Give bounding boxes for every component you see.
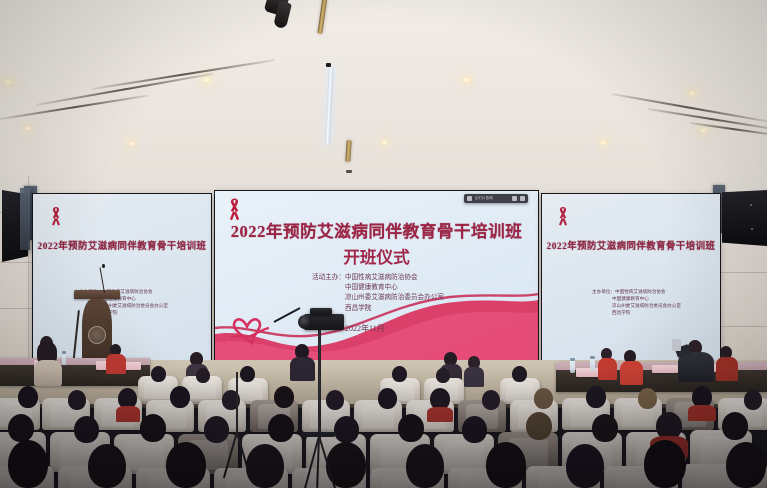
line-array-speaker-right (722, 190, 767, 246)
main-screen-subtitle: 开班仪式 (215, 244, 538, 268)
head (196, 368, 210, 383)
name-card (652, 365, 678, 373)
torso (678, 352, 714, 382)
camera-tripod (296, 300, 366, 488)
microphone-capsule (102, 264, 105, 268)
aids-awareness-ribbon-icon (555, 204, 571, 228)
recessed-downlight (462, 77, 471, 83)
head (566, 444, 604, 488)
torso (598, 358, 617, 380)
head (74, 416, 99, 443)
heart-ribbon-icon (229, 316, 275, 346)
head (526, 412, 552, 440)
head (644, 440, 686, 488)
right-projection-screen[interactable]: 2022年预防艾滋病同伴教育骨干培训班 主办单位：中国性病艾滋病防治协会 中国健… (542, 194, 720, 361)
tube-light-cap (326, 63, 331, 67)
toolbar-label: 幻灯片放映 (475, 197, 493, 200)
next-icon[interactable] (520, 196, 525, 201)
conference-hall-photo: 2022年预防艾滋病同伴教育骨干培训班 主办单位：中国性病艾滋病防治协会 中国健… (0, 0, 767, 488)
head (151, 366, 166, 382)
head (8, 414, 34, 442)
organizer-label: 活动主办： (312, 274, 345, 281)
water-bottle (62, 351, 66, 365)
organizer-line-3: 凉山州委艾滋病防治委员会办公室 (612, 303, 681, 308)
recessed-downlight (128, 141, 135, 146)
head (140, 414, 166, 442)
torso (116, 406, 140, 422)
menu-icon[interactable] (512, 196, 517, 201)
left-projection-screen[interactable]: 2022年预防艾滋病同伴教育骨干培训班 主办单位：中国性病艾滋病防治协会 中国健… (33, 194, 211, 361)
head (512, 366, 527, 382)
head (166, 442, 206, 488)
tripod-leg (316, 436, 320, 488)
recessed-downlight (700, 128, 707, 133)
organizer-label: 主办单位： (592, 289, 615, 294)
head (170, 386, 190, 408)
name-card (576, 368, 600, 377)
recessed-downlight (202, 77, 211, 83)
left-screen-title: 2022年预防艾滋病同伴教育骨干培训班 (33, 238, 211, 252)
water-bottle (570, 358, 575, 373)
torso (427, 407, 453, 422)
spotlight-fixture (266, 0, 306, 38)
right-screen-organizers: 主办单位：中国性病艾滋病防治协会 中国健康教育中心 凉山州委艾滋病防治委员会办公… (592, 288, 681, 316)
head (486, 442, 526, 488)
podium-emblem (88, 326, 106, 344)
head (68, 390, 86, 410)
main-screen-title: 2022年预防艾滋病同伴教育骨干培训班 (215, 218, 538, 242)
tripod-center-column (318, 328, 321, 440)
podium-top (74, 290, 120, 299)
head (482, 390, 500, 410)
stand-leg (236, 432, 251, 479)
head (406, 444, 444, 488)
head (436, 368, 450, 383)
camera-lens-icon (298, 315, 312, 329)
head (462, 416, 487, 443)
head (744, 390, 762, 410)
head (88, 444, 126, 488)
stand-column (236, 372, 238, 436)
organizer-line-4: 西昌学院 (612, 310, 630, 315)
cove-light-strip-2 (0, 10, 767, 182)
smartphone-icon (672, 339, 681, 351)
head (586, 386, 606, 408)
ceiling (0, 0, 767, 182)
tripod-spreader (302, 432, 336, 437)
pen-icon[interactable] (467, 196, 472, 201)
head (378, 388, 397, 409)
organizer-line-2: 中国健康教育中心 (345, 284, 398, 291)
recessed-downlight (381, 140, 388, 145)
right-screen-title: 2022年预防艾滋病同伴教育骨干培训班 (542, 238, 720, 252)
head (398, 414, 424, 442)
head (534, 388, 553, 409)
organizer-line-1: 中国性病艾滋病防治协会 (615, 289, 666, 294)
organizer-line-1: 中国性病艾滋病防治协会 (345, 274, 418, 281)
head (592, 414, 618, 442)
organizer-line-2: 中国健康教育中心 (612, 296, 649, 301)
tripod-leg (318, 436, 337, 488)
head (18, 386, 38, 408)
head (722, 412, 748, 440)
head (8, 440, 48, 488)
ceiling-sensor (346, 170, 352, 173)
slideshow-toolbar[interactable]: 幻灯片放映 (464, 194, 528, 203)
head (638, 388, 657, 409)
speaker-bracket-left (20, 188, 30, 250)
torso (716, 357, 738, 381)
head (726, 442, 766, 488)
aids-awareness-ribbon-icon (48, 204, 64, 228)
water-bottle (590, 356, 595, 371)
recessed-downlight (24, 126, 31, 131)
recessed-downlight (4, 79, 13, 85)
torso (106, 354, 126, 374)
torso (464, 367, 484, 387)
recessed-downlight (688, 90, 697, 96)
torso (34, 360, 62, 386)
torso (620, 361, 643, 385)
head (274, 386, 294, 408)
recessed-downlight (600, 140, 607, 145)
main-projection-screen[interactable]: 幻灯片放映 2022年预防艾滋病同伴教育骨干培训班 开班仪式 活动主办：中国性病… (215, 191, 538, 362)
stand-leg (223, 432, 238, 479)
torso (688, 405, 716, 421)
head (392, 366, 407, 382)
head (268, 414, 294, 442)
light-stand (222, 372, 262, 488)
video-camera-handle (310, 308, 332, 315)
